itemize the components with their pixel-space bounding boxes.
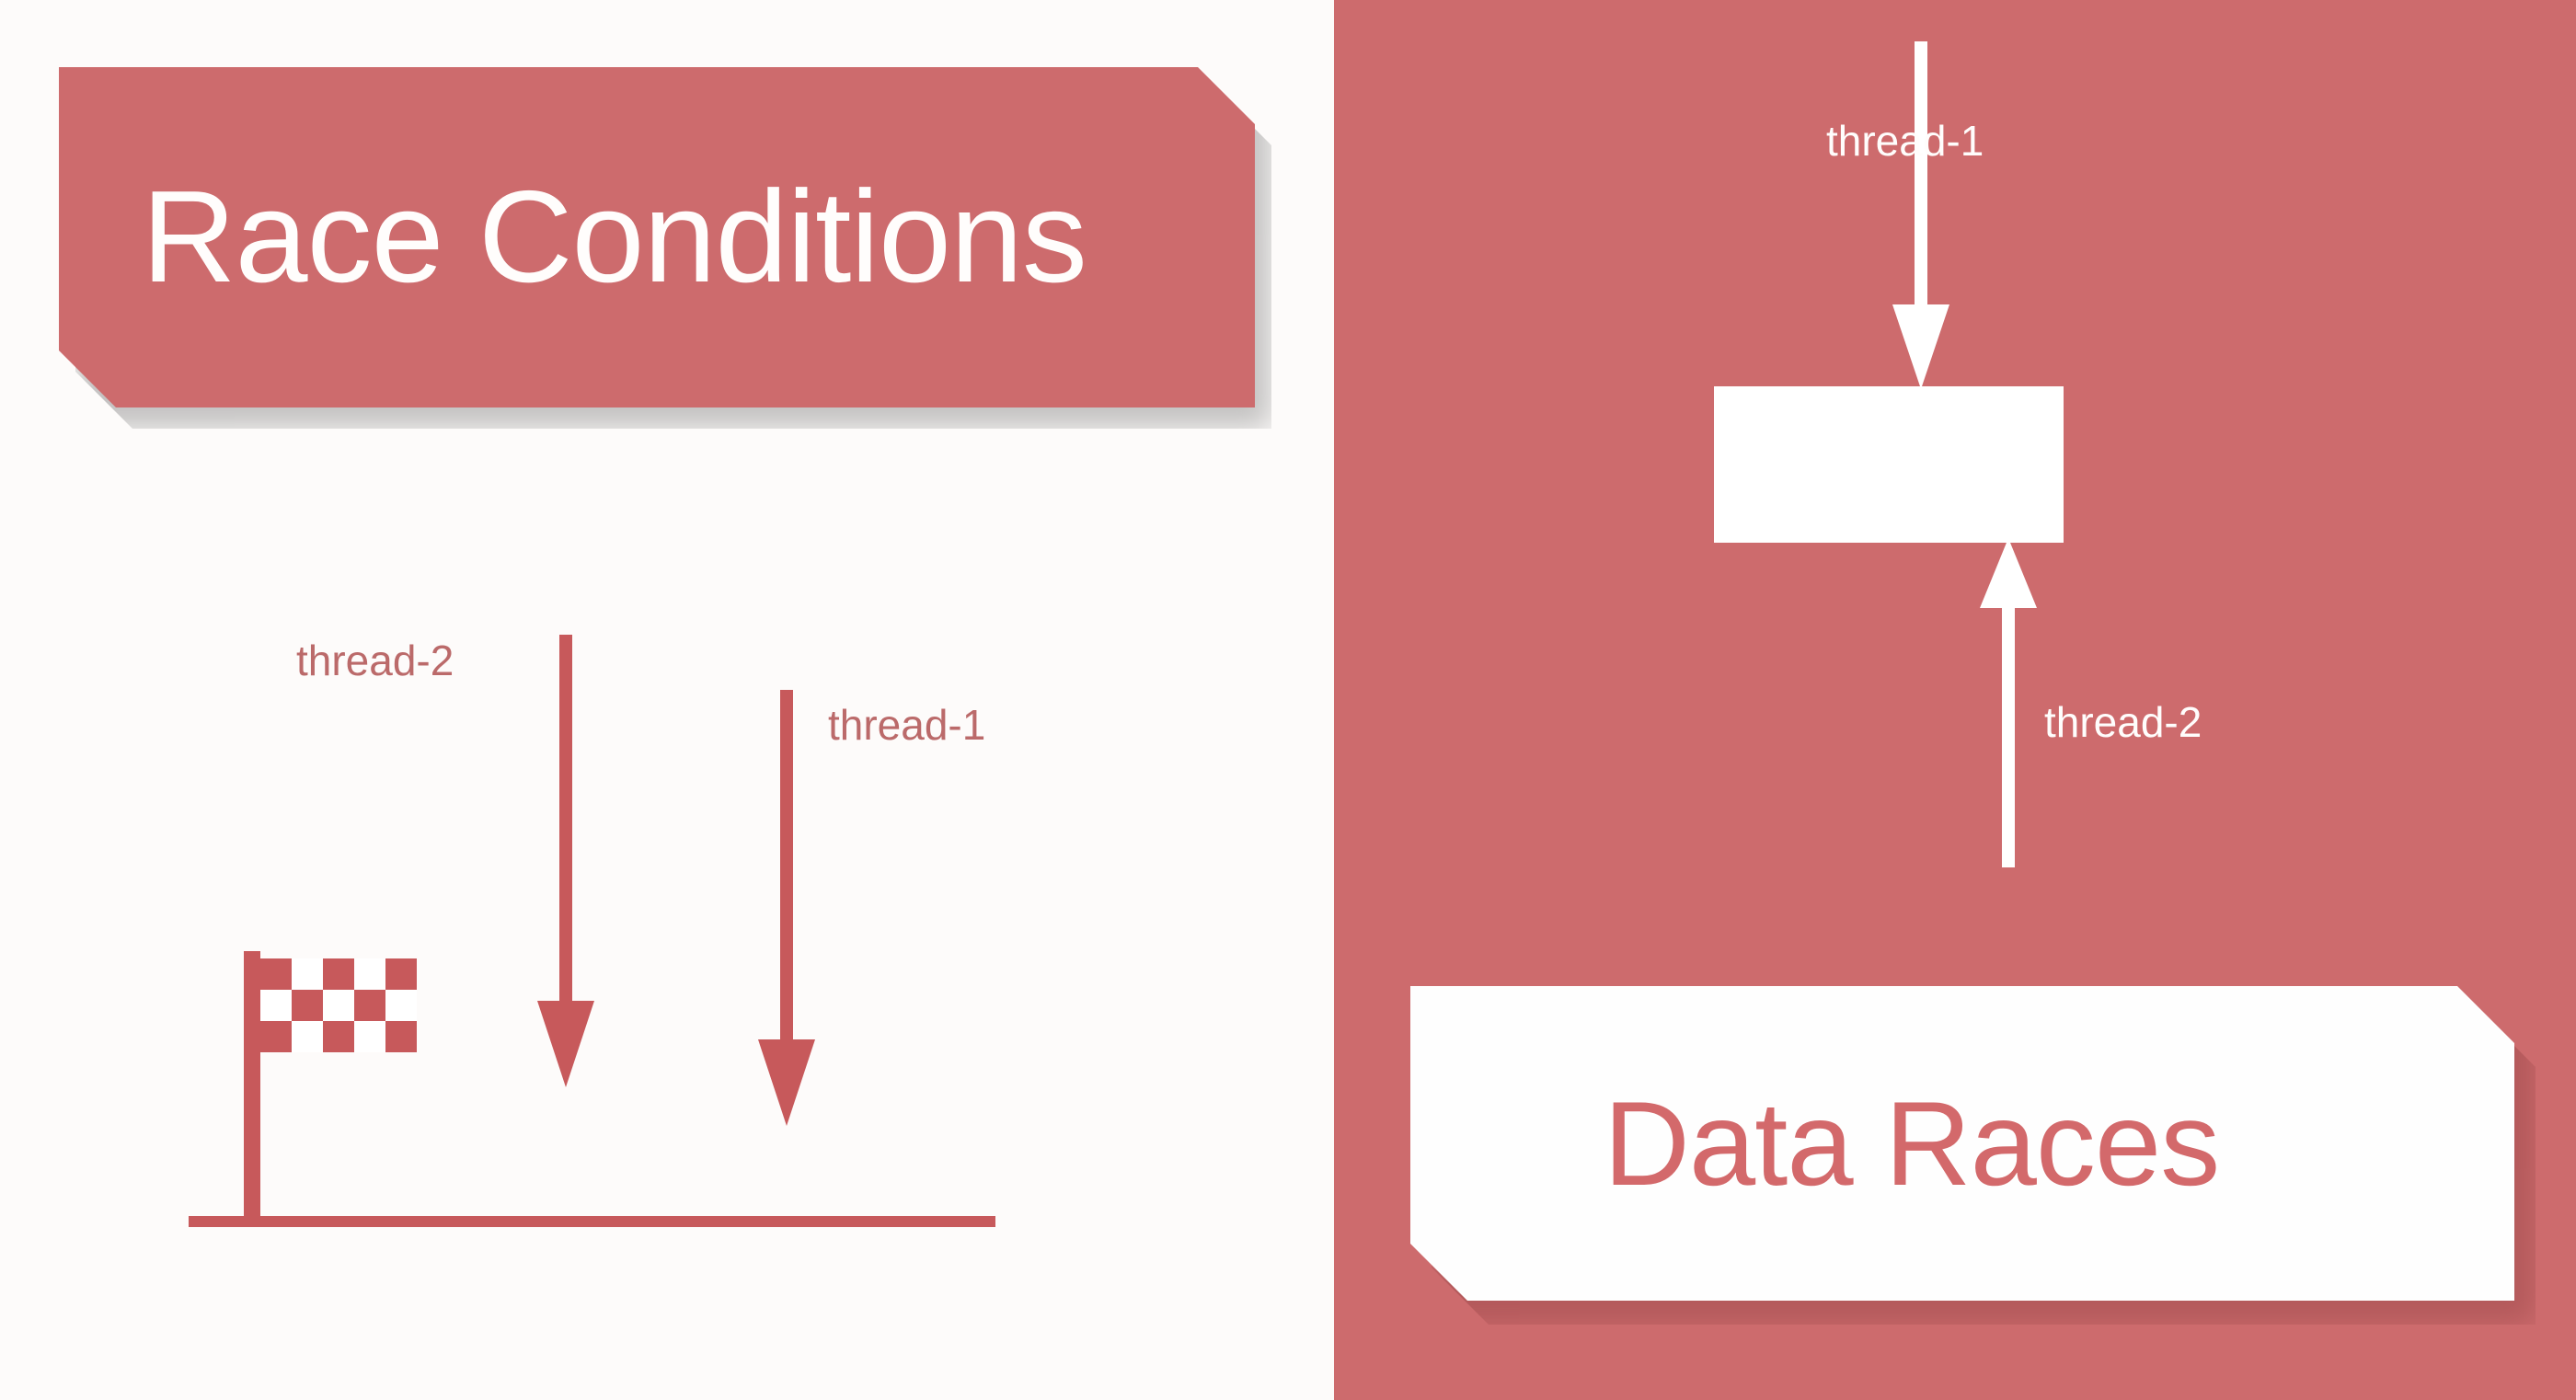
left-thread-1-label: thread-1 xyxy=(828,704,985,746)
flag-pole xyxy=(244,951,260,1223)
finish-line-ground xyxy=(189,1216,995,1227)
right-thread-1-arrow xyxy=(1872,41,1973,400)
data-races-banner: Data Races xyxy=(1410,986,2514,1301)
data-races-title: Data Races xyxy=(1604,1084,2219,1203)
race-conditions-banner: Race Conditions xyxy=(59,67,1255,407)
right-thread-1-label: thread-1 xyxy=(1826,120,1984,162)
diagram-canvas: Race Conditions thread-2 thread-1 xyxy=(0,0,2576,1400)
right-thread-2-label: thread-2 xyxy=(2044,701,2202,743)
shared-memory-box xyxy=(1714,386,2064,543)
left-thread-2-label: thread-2 xyxy=(296,639,454,682)
race-conditions-panel: Race Conditions thread-2 thread-1 xyxy=(0,0,1334,1400)
checkered-flag-icon xyxy=(166,929,1270,1297)
race-conditions-title: Race Conditions xyxy=(142,172,1087,303)
flag-checkerboard xyxy=(260,958,417,1052)
